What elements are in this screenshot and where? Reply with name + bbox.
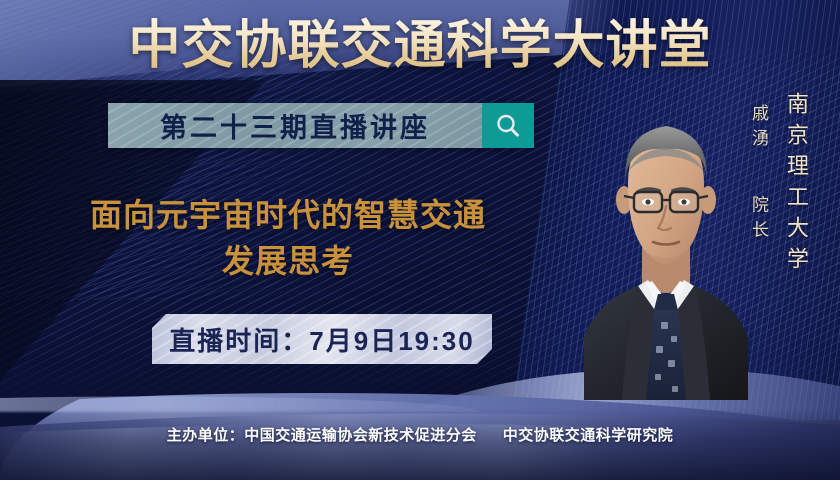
live-time-badge: 直播时间：7月9日19:30 (152, 314, 492, 364)
episode-banner-body: 第二十三期直播讲座 (108, 103, 482, 148)
episode-label: 第二十三期直播讲座 (160, 106, 430, 145)
episode-banner: 第二十三期直播讲座 (108, 103, 534, 148)
footer-prefix: 主办单位： (167, 427, 245, 444)
live-time-label: 直播时间：7月9日19:30 (169, 321, 474, 358)
search-icon[interactable] (482, 103, 534, 148)
speaker-portrait (576, 88, 756, 400)
speaker-identity: 戚湧 院长 (746, 104, 771, 245)
speaker-role: 院长 (749, 195, 768, 245)
footer-organizer-2: 中交协联交通科学研究院 (503, 427, 674, 444)
speaker-organization: 南京理工大学 (780, 92, 812, 278)
headline-line-2: 发展思考 (28, 238, 548, 284)
speaker-name: 戚湧 (749, 104, 768, 154)
lecture-headline: 面向元宇宙时代的智慧交通 发展思考 (28, 192, 548, 284)
live-lecture-poster: 中交协联交通科学大讲堂 第二十三期直播讲座 面向元宇宙时代的智慧交通 发展思考 … (0, 0, 840, 480)
page-title: 中交协联交通科学大讲堂 (0, 16, 840, 76)
footer-organizer-1: 中国交通运输协会新技术促进分会 (244, 427, 477, 444)
headline-line-1: 面向元宇宙时代的智慧交通 (90, 197, 486, 233)
footer-organizers: 主办单位：中国交通运输协会新技术促进分会中交协联交通科学研究院 (0, 424, 840, 445)
